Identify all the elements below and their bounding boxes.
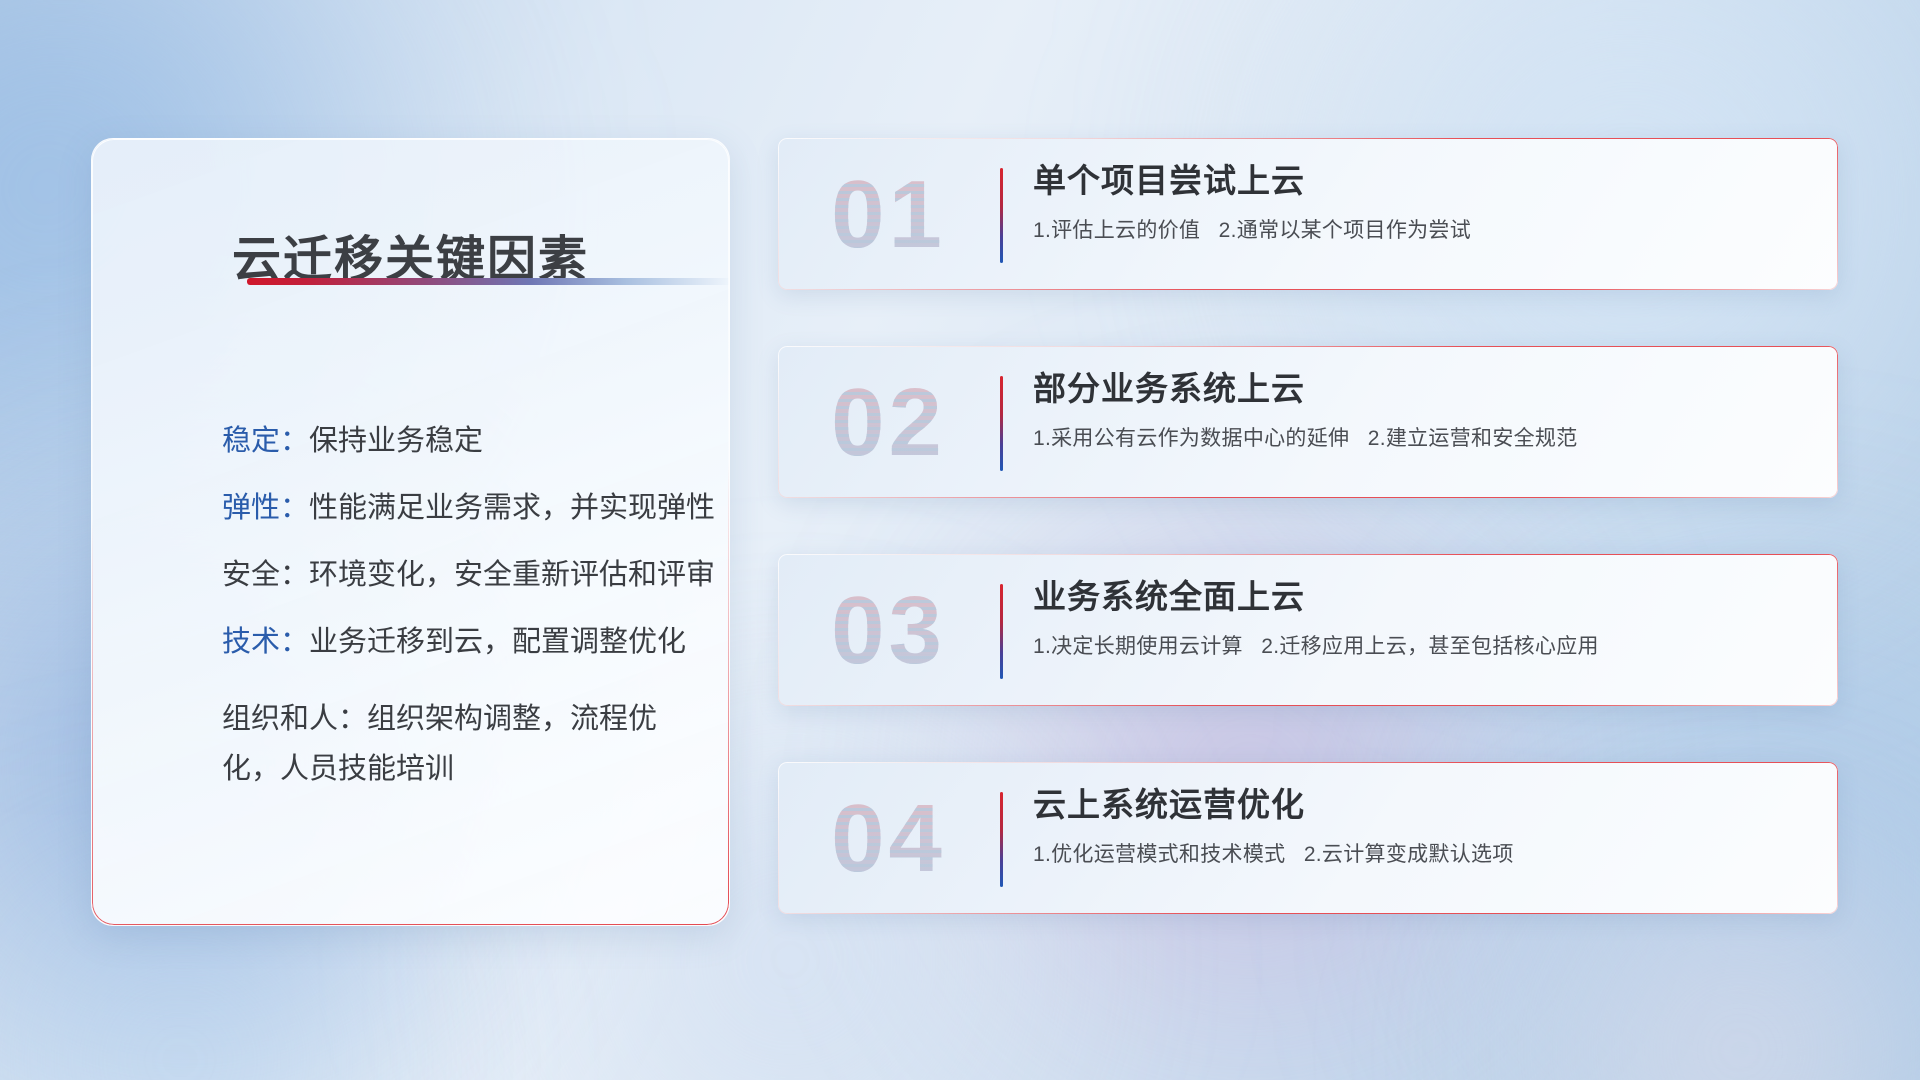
key-factors-list: 稳定：保持业务稳定 弹性：性能满足业务需求，并实现弹性 安全：环境变化，安全重新…	[222, 427, 695, 795]
list-item: 稳定：保持业务稳定	[222, 427, 695, 456]
stage-title: 业务系统全面上云	[1033, 576, 1812, 617]
stage-divider-bar	[1000, 584, 1003, 679]
list-item: 安全：环境变化，安全重新评估和评审	[222, 561, 695, 590]
list-item-value: 业务迁移到云，配置调整优化	[309, 626, 686, 658]
list-item: 技术：业务迁移到云，配置调整优化	[222, 628, 695, 657]
list-item-key: 技术：	[222, 626, 309, 658]
list-item-key: 安全：	[222, 559, 309, 591]
stage-card-body: 业务系统全面上云 1.决定长期使用云计算 2.迁移应用上云，甚至包括核心应用	[1033, 576, 1812, 660]
stage-number: 02	[806, 364, 971, 482]
list-item-key: 组织和人：	[222, 703, 367, 735]
list-item: 组织和人：组织架构调整，流程优化，人员技能培训	[222, 695, 695, 795]
stage-card[interactable]: 01 单个项目尝试上云 1.评估上云的价值 2.通常以某个项目作为尝试	[778, 138, 1838, 290]
stage-number: 04	[806, 780, 971, 898]
stage-title: 单个项目尝试上云	[1033, 160, 1812, 201]
stage-description: 1.优化运营模式和技术模式 2.云计算变成默认选项	[1033, 838, 1812, 868]
list-item-value: 性能满足业务需求，并实现弹性	[309, 492, 715, 524]
migration-stage-cards: 01 单个项目尝试上云 1.评估上云的价值 2.通常以某个项目作为尝试 02 部…	[778, 138, 1838, 970]
list-item: 弹性：性能满足业务需求，并实现弹性	[222, 494, 695, 523]
title-underline-rule	[247, 278, 730, 285]
slide-stage: 云迁移关键因素 稳定：保持业务稳定 弹性：性能满足业务需求，并实现弹性 安全：环…	[0, 0, 1920, 1080]
stage-card-body: 单个项目尝试上云 1.评估上云的价值 2.通常以某个项目作为尝试	[1033, 160, 1812, 244]
key-factors-panel: 云迁移关键因素 稳定：保持业务稳定 弹性：性能满足业务需求，并实现弹性 安全：环…	[91, 138, 730, 926]
stage-card[interactable]: 03 业务系统全面上云 1.决定长期使用云计算 2.迁移应用上云，甚至包括核心应…	[778, 554, 1838, 706]
stage-title: 部分业务系统上云	[1033, 368, 1812, 409]
stage-divider-bar	[1000, 168, 1003, 263]
list-item-value: 环境变化，安全重新评估和评审	[309, 559, 715, 591]
stage-title: 云上系统运营优化	[1033, 784, 1812, 825]
stage-card[interactable]: 04 云上系统运营优化 1.优化运营模式和技术模式 2.云计算变成默认选项	[778, 762, 1838, 914]
stage-description: 1.评估上云的价值 2.通常以某个项目作为尝试	[1033, 214, 1812, 244]
stage-description: 1.采用公有云作为数据中心的延伸 2.建立运营和安全规范	[1033, 422, 1812, 452]
stage-number: 01	[806, 156, 971, 274]
stage-description: 1.决定长期使用云计算 2.迁移应用上云，甚至包括核心应用	[1033, 630, 1812, 660]
stage-divider-bar	[1000, 376, 1003, 471]
stage-card-body: 部分业务系统上云 1.采用公有云作为数据中心的延伸 2.建立运营和安全规范	[1033, 368, 1812, 452]
list-item-key: 稳定：	[222, 425, 309, 457]
list-item-key: 弹性：	[222, 492, 309, 524]
stage-card[interactable]: 02 部分业务系统上云 1.采用公有云作为数据中心的延伸 2.建立运营和安全规范	[778, 346, 1838, 498]
stage-number: 03	[806, 572, 971, 690]
list-item-value: 保持业务稳定	[309, 425, 483, 457]
stage-card-body: 云上系统运营优化 1.优化运营模式和技术模式 2.云计算变成默认选项	[1033, 784, 1812, 868]
stage-divider-bar	[1000, 792, 1003, 887]
